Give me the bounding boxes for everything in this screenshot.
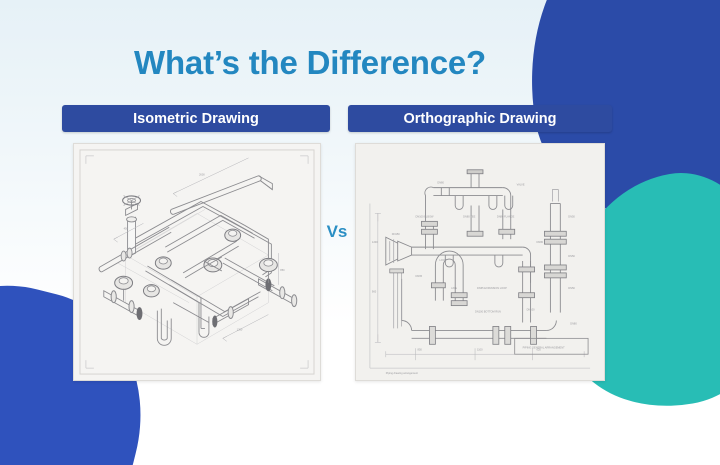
svg-text:900: 900 xyxy=(372,290,377,294)
svg-text:LINE: LINE xyxy=(451,286,457,290)
svg-text:DN80: DN80 xyxy=(537,240,544,244)
drawing-footer-note: Piping drawing arrangement xyxy=(386,371,418,375)
svg-text:DN150: DN150 xyxy=(392,232,401,236)
svg-text:1200: 1200 xyxy=(372,240,378,244)
svg-text:DN100 ELBOW: DN100 ELBOW xyxy=(416,214,435,218)
svg-text:DN100: DN100 xyxy=(527,308,536,312)
isometric-drawing-image: 2600 450 1200 850 xyxy=(74,144,320,380)
orthographic-drawing-image: 1200 900 850 1100 620 Piping drawing arr… xyxy=(356,144,604,380)
svg-text:DN80: DN80 xyxy=(570,321,577,325)
svg-text:LOOP: LOOP xyxy=(439,258,446,262)
slide-canvas: What’s the Difference? Isometric Drawing… xyxy=(0,0,720,465)
svg-text:DN80 FLANGE: DN80 FLANGE xyxy=(497,214,515,218)
orthographic-drawing-panel: 1200 900 850 1100 620 Piping drawing arr… xyxy=(355,143,605,381)
svg-text:850: 850 xyxy=(280,268,285,272)
isometric-drawing-panel: 2600 450 1200 850 xyxy=(73,143,321,381)
drawing-title-block: PIPING GENERAL ARRANGEMENT xyxy=(523,345,565,349)
svg-text:DN65: DN65 xyxy=(416,274,423,278)
svg-text:1100: 1100 xyxy=(477,347,483,351)
versus-label: Vs xyxy=(318,222,356,242)
svg-text:DN50: DN50 xyxy=(568,286,575,290)
banner-orthographic-drawing: Orthographic Drawing xyxy=(348,105,612,132)
svg-text:DN65 EXPANSION LOOP: DN65 EXPANSION LOOP xyxy=(477,286,507,290)
svg-text:850: 850 xyxy=(418,347,423,351)
page-title: What’s the Difference? xyxy=(0,44,620,82)
svg-text:1200: 1200 xyxy=(237,327,243,331)
svg-text:DN50: DN50 xyxy=(568,254,575,258)
svg-text:2600: 2600 xyxy=(199,173,205,177)
svg-text:DN100 BOTTOM RUN: DN100 BOTTOM RUN xyxy=(475,310,501,314)
svg-text:DN50: DN50 xyxy=(568,214,575,218)
banner-isometric-drawing: Isometric Drawing xyxy=(62,105,330,132)
svg-text:DN80 TEE: DN80 TEE xyxy=(463,214,475,218)
svg-text:VALVE: VALVE xyxy=(517,183,525,187)
svg-text:DN80: DN80 xyxy=(437,181,444,185)
svg-text:450: 450 xyxy=(124,226,129,230)
